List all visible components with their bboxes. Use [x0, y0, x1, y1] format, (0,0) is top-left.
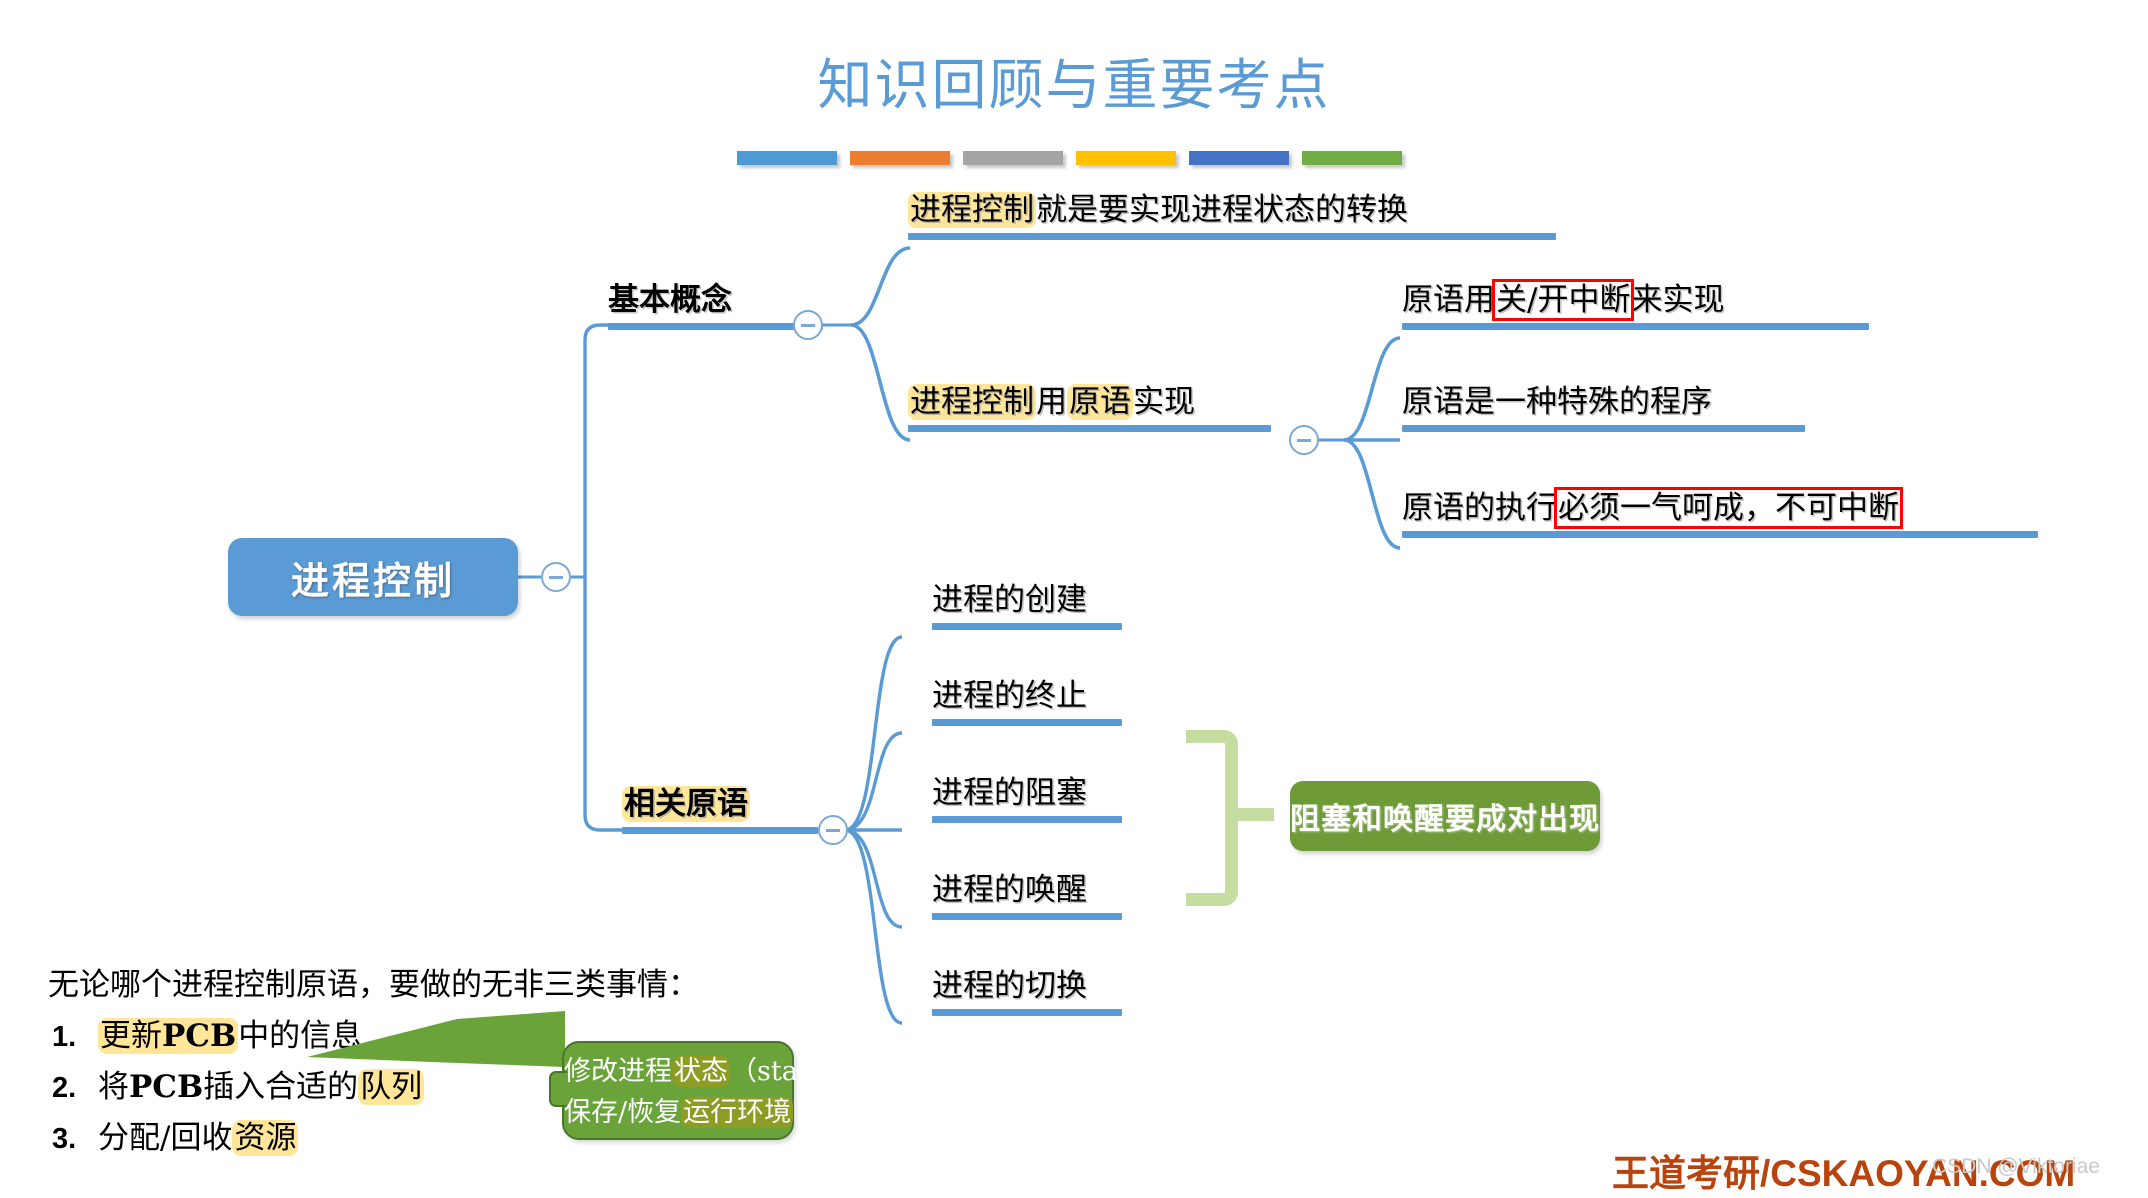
- node-underline: [908, 233, 1556, 240]
- csdn-watermark: CSDN @Viktoriae: [1932, 1155, 2100, 1179]
- bottom-note-lead: 无论哪个进程控制原语，要做的无非三类事情：: [48, 963, 699, 1007]
- slide-canvas: 知识回顾与重要考点 进程控制 基本概念: [0, 0, 2148, 1198]
- node-underline: [1402, 323, 1869, 330]
- accent-bar-5: [1189, 151, 1289, 165]
- mindmap-node-process-wakeup[interactable]: 进程的唤醒: [932, 870, 1122, 920]
- page-title: 知识回顾与重要考点: [0, 40, 2148, 120]
- mindmap-node-process-control-uses-primitives[interactable]: 进程控制用原语实现: [908, 382, 1271, 432]
- node-underline: [932, 623, 1122, 630]
- green-bracket-stem: [1232, 808, 1274, 821]
- mindmap-node-process-block[interactable]: 进程的阻塞: [932, 773, 1122, 823]
- bubble-arrow: [307, 1005, 565, 1083]
- accent-bar-2: [850, 151, 950, 165]
- accent-bar-1: [737, 151, 837, 165]
- node-underline: [908, 425, 1271, 432]
- mindmap-root-label: 进程控制: [291, 550, 455, 605]
- node-underline: [1402, 531, 2038, 538]
- collapse-toggle-related-primitives[interactable]: [818, 815, 848, 845]
- accent-bar-4: [1076, 151, 1176, 165]
- node-label: 进程的唤醒: [932, 870, 1087, 910]
- green-bracket: [1186, 730, 1238, 906]
- collapse-toggle-root[interactable]: [541, 562, 571, 592]
- node-underline: [608, 323, 823, 330]
- node-label: 原语用关/开中断来实现: [1402, 280, 1724, 320]
- mindmap-node-process-terminate[interactable]: 进程的终止: [932, 676, 1122, 726]
- node-label: 原语是一种特殊的程序: [1402, 382, 1712, 422]
- bubble-text: 修改进程状态（state） 保存/恢复运行环境: [564, 1051, 792, 1133]
- node-underline: [932, 913, 1122, 920]
- node-label: 基本概念: [608, 280, 732, 320]
- mindmap-node-primitive-is-special-program[interactable]: 原语是一种特殊的程序: [1402, 382, 1805, 432]
- collapse-toggle-basic-concept[interactable]: [793, 310, 823, 340]
- mindmap-node-primitive-uses-interrupt-disable[interactable]: 原语用关/开中断来实现: [1402, 280, 1869, 330]
- node-label: 进程控制就是要实现进程状态的转换: [908, 190, 1408, 230]
- callout-bubble-modify-state: 修改进程状态（state） 保存/恢复运行环境: [562, 1041, 794, 1140]
- bubble-line-2: 保存/恢复运行环境: [564, 1092, 792, 1133]
- mindmap-node-related-primitives[interactable]: 相关原语: [622, 784, 818, 834]
- list-item-number: 2.: [52, 1063, 80, 1113]
- node-underline: [1402, 425, 1805, 432]
- accent-bar-3: [963, 151, 1063, 165]
- callout-label: 阻塞和唤醒要成对出现: [1290, 794, 1600, 838]
- accent-bar-6: [1302, 151, 1402, 165]
- callout-block-wakeup-pair: 阻塞和唤醒要成对出现: [1290, 781, 1600, 851]
- node-underline: [932, 1009, 1122, 1016]
- list-item-label: 分配/回收资源: [98, 1113, 298, 1163]
- mindmap-node-process-control-is-state-transition[interactable]: 进程控制就是要实现进程状态的转换: [908, 190, 1556, 240]
- node-underline: [932, 719, 1122, 726]
- mindmap-node-process-switch[interactable]: 进程的切换: [932, 966, 1122, 1016]
- list-item-number: 1.: [52, 1012, 80, 1062]
- mindmap-node-basic-concept[interactable]: 基本概念: [608, 280, 823, 330]
- bubble-line-1: 修改进程状态（state）: [564, 1051, 792, 1092]
- node-label: 相关原语: [622, 784, 750, 824]
- node-label: 进程控制用原语实现: [908, 382, 1195, 422]
- collapse-toggle-primitives[interactable]: [1289, 425, 1319, 455]
- node-label: 进程的终止: [932, 676, 1087, 716]
- mindmap-root-node[interactable]: 进程控制: [228, 538, 518, 616]
- node-label: 进程的创建: [932, 580, 1087, 620]
- node-label: 进程的切换: [932, 966, 1087, 1006]
- node-underline: [622, 827, 818, 834]
- mindmap-node-primitive-atomic[interactable]: 原语的执行必须一气呵成，不可中断: [1402, 488, 2038, 538]
- accent-bar-row: [737, 151, 1402, 165]
- list-item-number: 3.: [52, 1114, 80, 1164]
- mindmap-node-process-create[interactable]: 进程的创建: [932, 580, 1122, 630]
- node-underline: [932, 816, 1122, 823]
- node-label: 原语的执行必须一气呵成，不可中断: [1402, 488, 1900, 528]
- node-label: 进程的阻塞: [932, 773, 1087, 813]
